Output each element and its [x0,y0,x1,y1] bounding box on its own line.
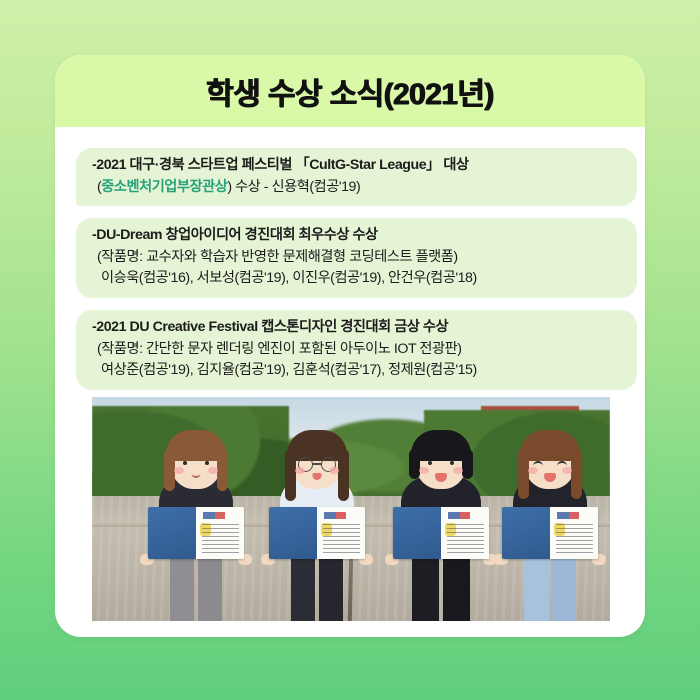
certificate-cover [393,507,441,559]
group-photo [92,397,610,621]
student-4-hair-left [518,449,529,499]
certificate-cover [502,507,550,559]
student-2-hair-left [285,449,296,501]
student-2-mouth [313,473,322,480]
student-4-eye-left [533,461,543,467]
student-4-hair-right [571,449,582,499]
student-2-blush-left [295,467,305,474]
award-entry-2: -DU-Dream 창업아이디어 경진대회 최우수상 수상 (작품명: 교수자와… [76,218,637,298]
award-entry-1: -2021 대구·경북 스타트업 페스티벌 「CultG-Star League… [76,148,637,206]
student-2-hair-right [338,449,349,501]
award-3-members: 여상준(컴공'19), 김지율(컴공'19), 김훈석(컴공'17), 정제원(… [90,360,623,382]
student-1-head [171,437,221,489]
student-1-eye-left [183,461,187,465]
page-title: 학생 수상 소식(2021년) [206,69,494,113]
certificate-cover [269,507,317,559]
certificate-page [196,507,244,559]
poster-canvas: 학생 수상 소식(2021년) -2021 대구·경북 스타트업 페스티벌 「C… [0,0,700,700]
student-2-certificate [269,507,365,559]
award-1-ministry-highlight: 중소벤처기업부장관상 [101,179,227,195]
student-1-eye-right [205,461,209,465]
student-3-mouth [435,473,447,482]
award-3-title: -2021 DU Creative Festival 캡스톤디자인 경진대회 금… [90,317,623,339]
student-4-blush-right [562,467,572,474]
award-1-title: -2021 대구·경북 스타트업 페스티벌 「CultG-Star League… [90,155,623,177]
award-2-title: -DU-Dream 창업아이디어 경진대회 최우수상 수상 [90,225,623,247]
student-1-blush-right [208,467,218,474]
student-3-hair-left [409,449,420,479]
student-3-eye-right [450,461,454,465]
student-3-certificate [393,507,489,559]
student-4 [500,425,600,621]
student-3 [388,416,494,621]
certificate-page [550,507,598,559]
student-2-head [292,437,342,489]
certificate-cover [148,507,196,559]
poster-header: 학생 수상 소식(2021년) [55,55,645,127]
award-2-members: 이승욱(컴공'16), 서보성(컴공'19), 이진우(컴공'19), 안건우(… [90,268,623,290]
certificate-seal [445,523,456,536]
certificate-seal [554,523,565,536]
student-2 [267,418,367,621]
student-4-blush-left [528,467,538,474]
student-4-certificate [502,507,598,559]
student-3-head [416,437,466,489]
student-1-hair-right [217,449,228,491]
student-3-eye-left [428,461,432,465]
student-1-mouth [192,473,201,478]
student-3-hair-right [462,449,473,479]
award-entry-3: -2021 DU Creative Festival 캡스톤디자인 경진대회 금… [76,310,637,390]
student-4-mouth [544,473,556,482]
student-1 [146,421,246,621]
student-3-blush-right [453,467,463,474]
certificate-page [317,507,365,559]
student-2-blush-right [329,467,339,474]
student-1-blush-left [174,467,184,474]
content-card: 학생 수상 소식(2021년) -2021 대구·경북 스타트업 페스티벌 「C… [55,55,645,637]
certificate-seal [200,523,211,536]
student-4-head [525,437,575,489]
award-2-detail: (작품명: 교수자와 학습자 반영한 문제해결형 코딩테스트 플랫폼) [90,247,623,269]
award-1-detail-suffix: ) 수상 - 신용혁(컴공'19) [227,179,360,195]
certificate-seal [321,523,332,536]
award-1-detail: (중소벤처기업부장관상) 수상 - 신용혁(컴공'19) [90,177,623,199]
photo-bottom-band [92,621,610,635]
award-3-detail: (작품명: 간단한 문자 렌더링 엔진이 포함된 아두이노 IOT 전광판) [90,339,623,361]
student-3-blush-left [419,467,429,474]
certificate-page [441,507,489,559]
student-1-certificate [148,507,244,559]
